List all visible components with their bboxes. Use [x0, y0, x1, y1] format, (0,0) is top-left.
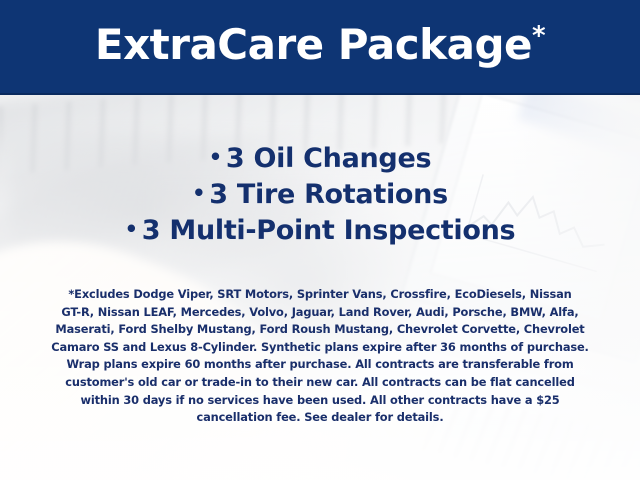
extracare-promo-card: ExtraCare Package* •3 Oil Changes •3 Tir… — [0, 0, 640, 480]
legal-disclaimer: *Excludes Dodge Viper, SRT Motors, Sprin… — [26, 286, 614, 427]
bullet-icon: • — [209, 145, 222, 169]
title-asterisk: * — [532, 21, 545, 51]
list-item: •3 Tire Rotations — [0, 176, 640, 212]
benefits-list: •3 Oil Changes •3 Tire Rotations •3 Mult… — [0, 140, 640, 248]
disclaimer-line: cancellation fee. See dealer for details… — [26, 409, 614, 427]
benefit-label: 3 Multi-Point Inspections — [142, 215, 516, 246]
disclaimer-line: within 30 days if no services have been … — [26, 392, 614, 410]
disclaimer-line: Wrap plans expire 60 months after purcha… — [26, 356, 614, 374]
bullet-icon: • — [192, 181, 205, 205]
disclaimer-line: Maserati, Ford Shelby Mustang, Ford Rous… — [26, 321, 614, 339]
disclaimer-line: *Excludes Dodge Viper, SRT Motors, Sprin… — [26, 286, 614, 304]
bullet-icon: • — [125, 217, 138, 241]
benefit-label: 3 Tire Rotations — [209, 179, 448, 210]
disclaimer-line: customer's old car or trade-in to their … — [26, 374, 614, 392]
disclaimer-line: GT-R, Nissan LEAF, Mercedes, Volvo, Jagu… — [26, 304, 614, 322]
list-item: •3 Oil Changes — [0, 140, 640, 176]
page-title-text: ExtraCare Package — [95, 20, 532, 69]
list-item: •3 Multi-Point Inspections — [0, 212, 640, 248]
header-banner: ExtraCare Package* — [0, 0, 640, 95]
disclaimer-line: Camaro SS and Lexus 8-Cylinder. Syntheti… — [26, 339, 614, 357]
benefit-label: 3 Oil Changes — [226, 143, 431, 174]
page-title: ExtraCare Package* — [95, 24, 545, 69]
